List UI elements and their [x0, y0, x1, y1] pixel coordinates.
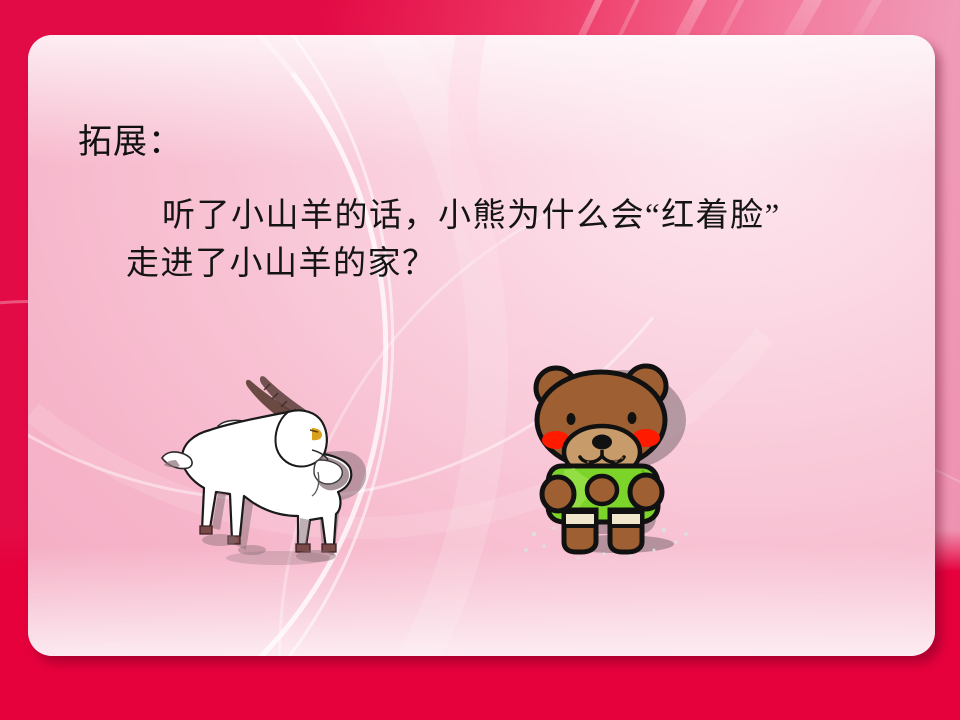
question-text: 听了小山羊的话，小熊为什么会“红着脸” 走进了小山羊的家？ [126, 192, 886, 288]
question-line-2: 走进了小山羊的家？ [126, 240, 886, 288]
bear-icon [518, 362, 703, 567]
bear-arms [542, 475, 662, 511]
page-title: 拓展： [78, 124, 183, 161]
goat-illustration [160, 368, 390, 573]
presentation-slide: 拓展： 听了小山羊的话，小熊为什么会“红着脸” 走进了小山羊的家？ [0, 0, 960, 720]
bear-illustration [518, 362, 703, 567]
question-line-1: 听了小山羊的话，小熊为什么会“红着脸” [126, 192, 886, 240]
goat-icon [160, 368, 390, 573]
